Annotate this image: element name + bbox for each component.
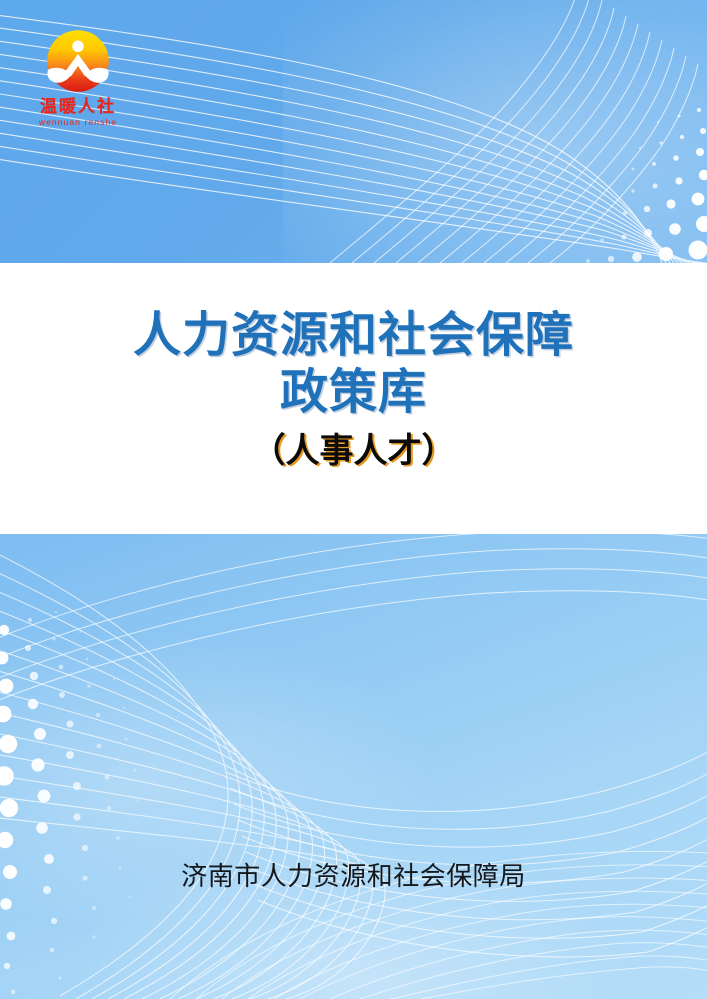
footer-band bbox=[0, 534, 707, 999]
page-title-line-2: 政策库 bbox=[280, 364, 427, 421]
page-subtitle: （人事人才） bbox=[252, 431, 456, 471]
logo-name-pinyin: wennuan renshe bbox=[30, 117, 126, 128]
header-band: 温暖人社 wennuan renshe bbox=[0, 0, 707, 263]
organization-name: 济南市人力资源和社会保障局 bbox=[0, 856, 707, 893]
title-block: 人力资源和社会保障 政策库 （人事人才） bbox=[0, 263, 707, 534]
wennuan-renshe-emblem-icon bbox=[43, 26, 113, 96]
page-title-line-1: 人力资源和社会保障 bbox=[133, 307, 574, 364]
header-glow bbox=[283, 0, 707, 263]
logo-name-cn: 温暖人社 bbox=[30, 97, 126, 117]
cover-page: 温暖人社 wennuan renshe 人力资源和社会保障 政策库 （人事人才） bbox=[0, 0, 707, 999]
logo: 温暖人社 wennuan renshe bbox=[30, 26, 126, 128]
